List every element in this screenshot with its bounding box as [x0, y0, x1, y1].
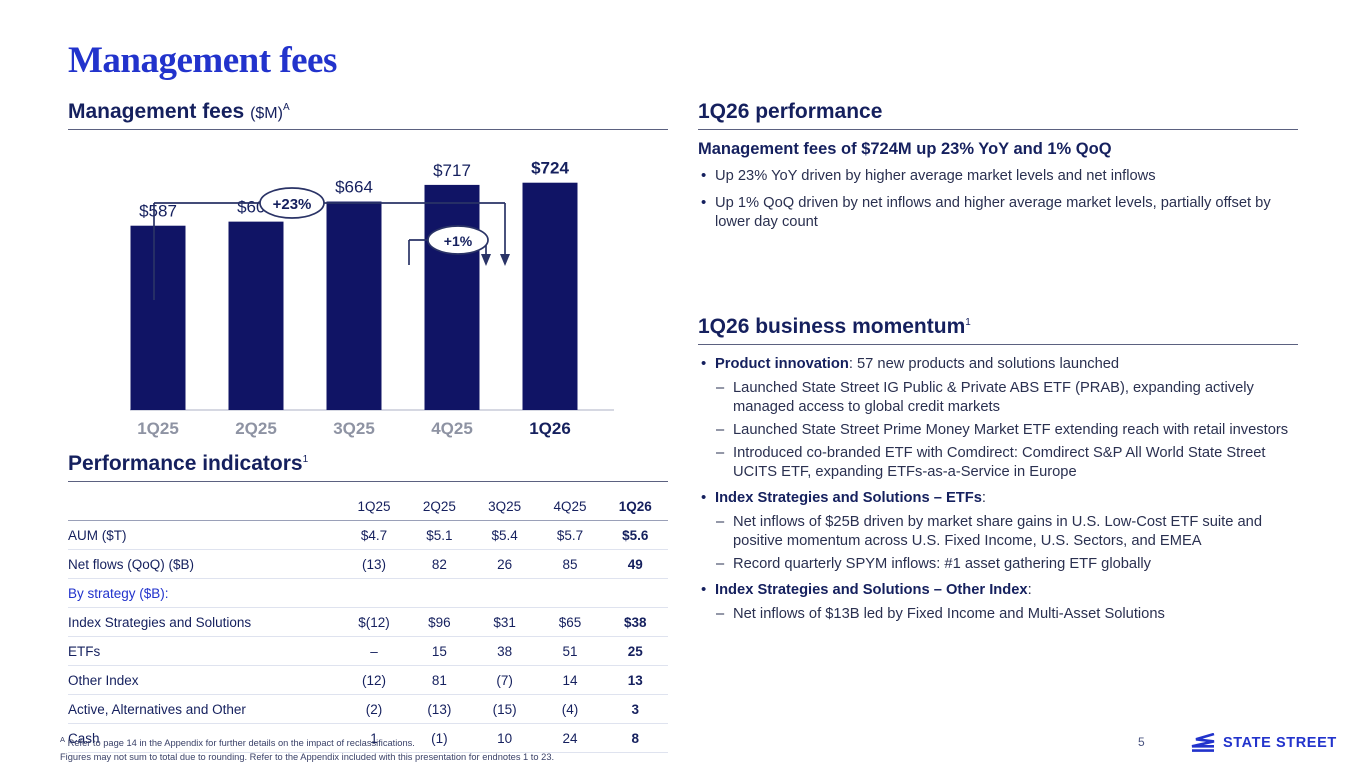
table-cell	[341, 579, 406, 608]
performance-heading: 1Q26 performance	[698, 100, 1298, 129]
chart-bar	[523, 183, 578, 410]
table-header-row: 1Q252Q253Q254Q251Q26	[68, 492, 668, 521]
performance-heading-rule	[698, 129, 1298, 130]
annotation-qoq-arrowhead	[481, 254, 491, 266]
chart-category-labels: 1Q252Q253Q254Q251Q26	[137, 419, 571, 438]
right-column: 1Q26 performance Management fees of $724…	[698, 100, 1298, 631]
chart-bar	[425, 185, 480, 410]
chart-bar	[131, 226, 186, 410]
chart-bar	[327, 202, 382, 410]
table-header: 1Q252Q253Q254Q251Q26	[68, 492, 668, 521]
table-cell: 25	[603, 637, 668, 666]
slide: Management fees Management fees ($M)A $5…	[0, 0, 1365, 768]
table-cell: 38	[472, 637, 537, 666]
table-cell: $5.7	[537, 521, 602, 550]
table-cell: (13)	[341, 550, 406, 579]
chart-category-label: 1Q25	[137, 419, 179, 438]
table-cell: 13	[603, 666, 668, 695]
chart-value-label: $664	[335, 178, 373, 197]
table-row: AUM ($T)$4.7$5.1$5.4$5.7$5.6	[68, 521, 668, 550]
table-cell: 14	[537, 666, 602, 695]
momentum-sub-bullet: Net inflows of $25B driven by market sha…	[715, 513, 1298, 551]
table-cell: $5.6	[603, 521, 668, 550]
momentum-bullet-lead: Product innovation	[715, 356, 849, 372]
momentum-bullet-rest: :	[1028, 582, 1032, 598]
table-cell	[472, 579, 537, 608]
momentum-heading-text: 1Q26 business momentum	[698, 315, 965, 338]
annotation-yoy-arrowhead	[500, 254, 510, 266]
chart-svg: $587$600$664$717$724 1Q252Q253Q254Q251Q2…	[68, 140, 668, 440]
table-cell: 85	[537, 550, 602, 579]
momentum-bullet-lead: Index Strategies and Solutions – Other I…	[715, 582, 1028, 598]
chart-value-label: $724	[531, 159, 569, 178]
table-cell: 3	[603, 695, 668, 724]
table-cell: $65	[537, 608, 602, 637]
left-column: Management fees ($M)A $587$600$664$717$7…	[68, 100, 668, 753]
table-cell: 8	[603, 724, 668, 753]
table-row-label: By strategy ($B):	[68, 579, 341, 608]
momentum-sub-list: Net inflows of $25B driven by market sha…	[715, 513, 1298, 574]
table-cell: 82	[407, 550, 472, 579]
chart-value-label: $587	[139, 202, 177, 221]
chart-category-label: 1Q26	[529, 419, 571, 438]
table-cell: (12)	[341, 666, 406, 695]
momentum-sub-bullet: Introduced co-branded ETF with Comdirect…	[715, 444, 1298, 482]
table-column-header: 4Q25	[537, 492, 602, 521]
footnotes: A Refer to page 14 in the Appendix for f…	[60, 735, 554, 764]
table-row: Index Strategies and Solutions$(12)$96$3…	[68, 608, 668, 637]
table-column-header: 1Q26	[603, 492, 668, 521]
chart-bar	[229, 222, 284, 410]
chart-heading-text: Management fees	[68, 100, 244, 123]
table-cell: 81	[407, 666, 472, 695]
table-column-header	[68, 492, 341, 521]
management-fees-bar-chart: $587$600$664$717$724 1Q252Q253Q254Q251Q2…	[68, 140, 668, 440]
table-heading-superscript: 1	[303, 454, 309, 465]
table-cell: (4)	[537, 695, 602, 724]
footnote-line-1-text: Refer to page 14 in the Appendix for fur…	[65, 738, 415, 748]
table-cell: $38	[603, 608, 668, 637]
chart-heading-rule	[68, 129, 668, 130]
table-heading-rule	[68, 481, 668, 482]
table-row: Net flows (QoQ) ($B)(13)82268549	[68, 550, 668, 579]
table-cell: (7)	[472, 666, 537, 695]
table-cell: $5.1	[407, 521, 472, 550]
momentum-sub-list: Launched State Street IG Public & Privat…	[715, 379, 1298, 483]
table-row-label: Active, Alternatives and Other	[68, 695, 341, 724]
performance-lead: Management fees of $724M up 23% YoY and …	[698, 140, 1298, 159]
table-row: Other Index(12)81(7)1413	[68, 666, 668, 695]
table-cell: (15)	[472, 695, 537, 724]
chart-heading: Management fees ($M)A	[68, 100, 668, 129]
footnote-line-2: Figures may not sum to total due to roun…	[60, 751, 554, 764]
annotation-yoy-label: +23%	[273, 196, 312, 213]
table-cell: 49	[603, 550, 668, 579]
table-row-label: Other Index	[68, 666, 341, 695]
table-cell	[537, 579, 602, 608]
chart-heading-unit: ($M)	[250, 105, 283, 122]
brand-lockup: STATE STREET	[1190, 733, 1337, 753]
momentum-bullet: Index Strategies and Solutions – Other I…	[698, 581, 1298, 624]
table-cell: $(12)	[341, 608, 406, 637]
chart-category-label: 2Q25	[235, 419, 277, 438]
table-column-header: 1Q25	[341, 492, 406, 521]
chart-value-label: $717	[433, 161, 471, 180]
chart-category-label: 4Q25	[431, 419, 473, 438]
performance-bullet-list: Up 23% YoY driven by higher average mark…	[698, 167, 1298, 232]
momentum-sub-bullet: Launched State Street Prime Money Market…	[715, 421, 1298, 440]
performance-bullet: Up 1% QoQ driven by net inflows and high…	[698, 194, 1298, 233]
page-title: Management fees	[68, 42, 337, 79]
momentum-sub-bullet: Net inflows of $13B led by Fixed Income …	[715, 605, 1298, 624]
momentum-sub-bullet: Launched State Street IG Public & Privat…	[715, 379, 1298, 417]
table-body: AUM ($T)$4.7$5.1$5.4$5.7$5.6Net flows (Q…	[68, 521, 668, 753]
table-cell: –	[341, 637, 406, 666]
performance-indicators-table: 1Q252Q253Q254Q251Q26 AUM ($T)$4.7$5.1$5.…	[68, 492, 668, 753]
table-column-header: 2Q25	[407, 492, 472, 521]
momentum-sub-bullet: Record quarterly SPYM inflows: #1 asset …	[715, 555, 1298, 574]
performance-bullet: Up 23% YoY driven by higher average mark…	[698, 167, 1298, 186]
annotation-qoq-label: +1%	[444, 233, 473, 249]
momentum-bullet-rest: :	[982, 490, 986, 506]
table-row-label: Net flows (QoQ) ($B)	[68, 550, 341, 579]
momentum-sub-list: Net inflows of $13B led by Fixed Income …	[715, 605, 1298, 624]
table-column-header: 3Q25	[472, 492, 537, 521]
table-cell: 15	[407, 637, 472, 666]
table-row-label: AUM ($T)	[68, 521, 341, 550]
state-street-logo-icon	[1190, 733, 1216, 753]
momentum-heading-superscript: 1	[965, 317, 971, 328]
momentum-bullet-rest: : 57 new products and solutions launched	[849, 356, 1119, 372]
table-heading-text: Performance indicators	[68, 452, 303, 475]
momentum-heading-rule	[698, 344, 1298, 345]
table-cell: (13)	[407, 695, 472, 724]
momentum-bullet-lead: Index Strategies and Solutions – ETFs	[715, 490, 982, 506]
chart-category-label: 3Q25	[333, 419, 375, 438]
table-cell	[407, 579, 472, 608]
footnote-line-1: A Refer to page 14 in the Appendix for f…	[60, 735, 554, 751]
table-cell: (2)	[341, 695, 406, 724]
table-cell	[603, 579, 668, 608]
table-cell: $4.7	[341, 521, 406, 550]
table-cell: $5.4	[472, 521, 537, 550]
table-cell: 26	[472, 550, 537, 579]
chart-heading-superscript: A	[283, 102, 290, 113]
table-row-label: Index Strategies and Solutions	[68, 608, 341, 637]
table-row: By strategy ($B):	[68, 579, 668, 608]
column-spacer	[698, 239, 1298, 315]
chart-bars	[131, 183, 578, 410]
table-row: ETFs–15385125	[68, 637, 668, 666]
table-row: Active, Alternatives and Other(2)(13)(15…	[68, 695, 668, 724]
table-cell: 51	[537, 637, 602, 666]
table-cell: $96	[407, 608, 472, 637]
brand-name: STATE STREET	[1223, 735, 1337, 751]
table-row-label: ETFs	[68, 637, 341, 666]
momentum-bullet-list: Product innovation: 57 new products and …	[698, 355, 1298, 623]
momentum-bullet: Product innovation: 57 new products and …	[698, 355, 1298, 482]
table-heading: Performance indicators1	[68, 452, 668, 481]
momentum-bullet: Index Strategies and Solutions – ETFs:Ne…	[698, 489, 1298, 574]
page-number: 5	[1138, 735, 1145, 749]
momentum-heading: 1Q26 business momentum1	[698, 315, 1298, 344]
table-cell: $31	[472, 608, 537, 637]
